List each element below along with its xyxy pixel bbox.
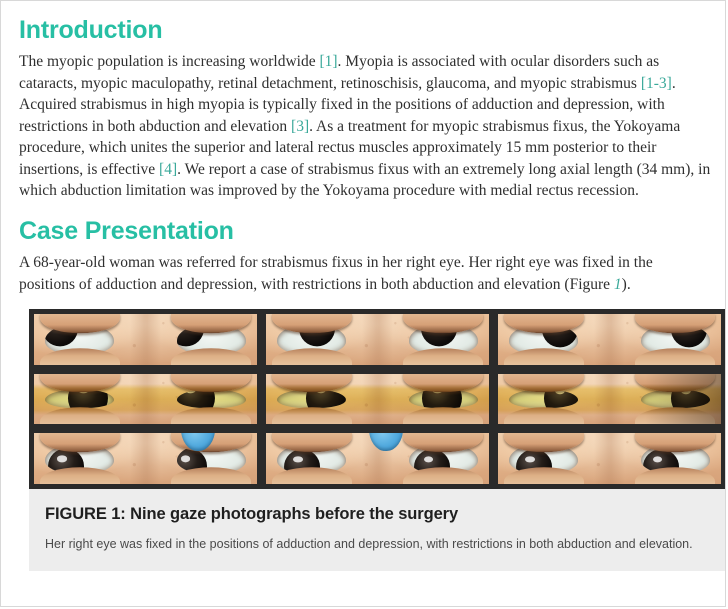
citation-link[interactable]: [1]	[319, 53, 337, 70]
case-presentation-paragraph: A 68-year-old woman was referred for str…	[19, 252, 711, 295]
lower-eyelid	[635, 348, 715, 365]
gaze-photo-up	[266, 314, 489, 365]
lower-eyelid	[171, 348, 251, 365]
lower-eyelid	[504, 408, 584, 425]
citation-link[interactable]: [1-3]	[641, 75, 672, 92]
patient-right-eye	[509, 383, 578, 414]
gaze-photo-up-left	[498, 314, 721, 365]
patient-right-eye	[277, 443, 346, 474]
patient-right-eye	[277, 324, 346, 355]
gaze-photo-grid	[29, 309, 726, 489]
citation-link[interactable]: [4]	[159, 161, 177, 178]
figure-caption-box: FIGURE 1: Nine gaze photographs before t…	[29, 489, 726, 571]
nose-bridge-shadow	[594, 433, 625, 484]
patient-right-eye	[45, 324, 114, 355]
nose-bridge-shadow	[594, 314, 625, 365]
gaze-photo-down-right	[34, 433, 257, 484]
introduction-paragraph: The myopic population is increasing worl…	[19, 51, 711, 202]
gaze-photo-down	[266, 433, 489, 484]
figure-1: FIGURE 1: Nine gaze photographs before t…	[29, 309, 726, 571]
lower-eyelid	[40, 408, 120, 425]
lower-eyelid	[40, 348, 120, 365]
article-content: Introduction The myopic population is in…	[1, 1, 725, 571]
patient-left-eye	[177, 383, 246, 414]
lower-eyelid	[635, 408, 715, 425]
patient-left-eye	[641, 443, 710, 474]
lower-eyelid	[504, 348, 584, 365]
patient-right-eye	[277, 383, 346, 414]
patient-left-eye	[641, 383, 710, 414]
gaze-photo-left	[498, 374, 721, 425]
nose-bridge-shadow	[362, 314, 393, 365]
nose-bridge-shadow	[130, 433, 161, 484]
nose-bridge-shadow	[362, 374, 393, 425]
lower-eyelid	[272, 348, 352, 365]
page-title-introduction: Introduction	[19, 17, 711, 43]
article-page: Introduction The myopic population is in…	[0, 0, 726, 607]
patient-right-eye	[45, 383, 114, 414]
page-title-case-presentation: Case Presentation	[19, 218, 711, 244]
upper-eyelid	[403, 374, 483, 393]
patient-left-eye	[641, 324, 710, 355]
patient-left-eye	[177, 443, 246, 474]
patient-left-eye	[177, 324, 246, 355]
citation-link[interactable]: [3]	[291, 118, 309, 135]
gaze-photo-primary	[266, 374, 489, 425]
figure-caption-title: FIGURE 1: Nine gaze photographs before t…	[45, 505, 710, 524]
gaze-photo-down-left	[498, 433, 721, 484]
upper-eyelid	[40, 374, 120, 393]
gaze-photo-up-right	[34, 314, 257, 365]
iris-pupil	[544, 389, 578, 408]
patient-right-eye	[509, 443, 578, 474]
figure-reference-link[interactable]: 1	[614, 276, 622, 293]
patient-left-eye	[409, 324, 478, 355]
lower-eyelid	[171, 408, 251, 425]
nose-bridge-shadow	[594, 374, 625, 425]
lower-eyelid	[403, 348, 483, 365]
patient-left-eye	[409, 383, 478, 414]
figure-caption-text: Her right eye was fixed in the positions…	[45, 536, 705, 553]
nose-bridge-shadow	[130, 374, 161, 425]
patient-right-eye	[509, 324, 578, 355]
gaze-photo-right	[34, 374, 257, 425]
nose-bridge-shadow	[130, 314, 161, 365]
patient-right-eye	[45, 443, 114, 474]
lower-eyelid	[272, 408, 352, 425]
patient-left-eye	[409, 443, 478, 474]
lower-eyelid	[403, 408, 483, 425]
